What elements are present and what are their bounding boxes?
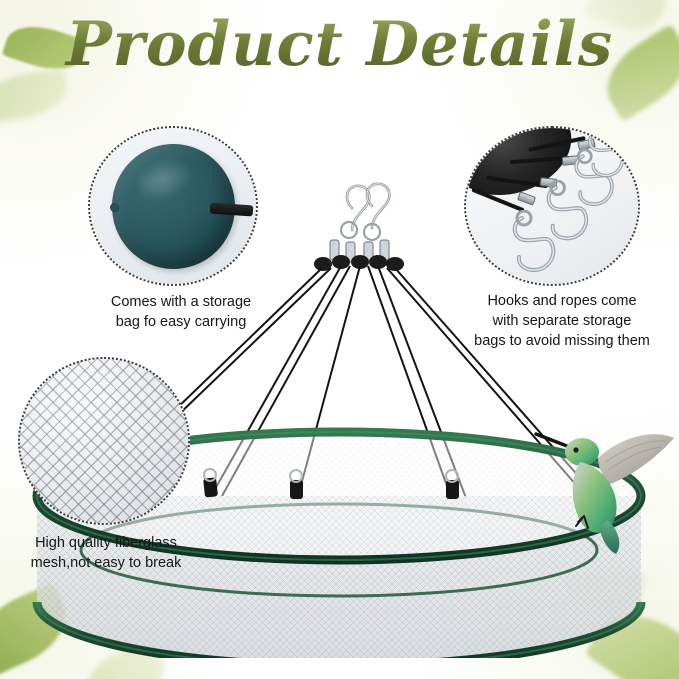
cord-lock bbox=[517, 191, 536, 205]
head bbox=[565, 438, 599, 466]
inset-fiberglass-mesh bbox=[18, 357, 190, 525]
s-hooks-and-ropes-image bbox=[466, 128, 638, 284]
product-details-page: Product Details Comes with a storage bag… bbox=[0, 0, 679, 679]
top-hook-assembly bbox=[341, 184, 389, 240]
page-title: Product Details bbox=[0, 14, 679, 75]
caption-line: with separate storage bbox=[444, 311, 679, 331]
fiberglass-mesh-image bbox=[20, 359, 188, 523]
caption-line: bag fo easy carrying bbox=[60, 312, 302, 332]
beak bbox=[536, 434, 572, 448]
inset-storage-bag bbox=[88, 126, 258, 286]
leaf-icon bbox=[0, 68, 71, 124]
bag-zipper-pull-icon bbox=[110, 203, 119, 212]
caption-line: Comes with a storage bbox=[60, 292, 302, 312]
caption-line: bags to avoid missing them bbox=[444, 331, 679, 351]
caption-line: mesh,not easy to break bbox=[2, 553, 210, 573]
eye bbox=[573, 447, 578, 452]
round-storage-bag-image bbox=[90, 128, 256, 284]
caption-line: Hooks and ropes come bbox=[444, 291, 679, 311]
page-title-text: Product Details bbox=[0, 14, 679, 75]
tail bbox=[600, 520, 619, 554]
inset-hooks-and-ropes bbox=[464, 126, 640, 286]
hummingbird bbox=[528, 414, 679, 556]
s-hook-icon bbox=[584, 126, 640, 188]
mesh-shading bbox=[20, 359, 188, 523]
caption-fiberglass-mesh: High quality fiberglass mesh,not easy to… bbox=[2, 533, 210, 573]
caption-line: High quality fiberglass bbox=[2, 533, 210, 553]
caption-hooks-and-ropes: Hooks and ropes come with separate stora… bbox=[444, 291, 679, 351]
caption-storage-bag: Comes with a storage bag fo easy carryin… bbox=[60, 292, 302, 332]
